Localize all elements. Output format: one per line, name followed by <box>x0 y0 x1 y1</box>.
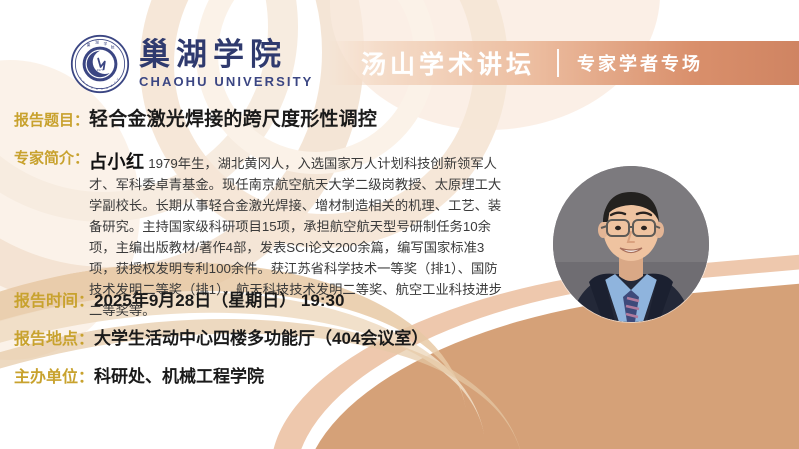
report-title-row: 报告题目： 轻合金激光焊接的跨尺度形性调控 <box>14 108 377 132</box>
svg-text:U: U <box>100 87 103 91</box>
forum-banner: 汤山学术讲坛 专家学者专场 <box>328 41 799 85</box>
svg-text:院: 院 <box>111 44 115 49</box>
svg-text:1977: 1977 <box>97 68 104 72</box>
svg-text:巢: 巢 <box>87 42 91 47</box>
report-title-label: 报告题目： <box>14 112 89 131</box>
report-host-label: 主办单位： <box>14 368 94 388</box>
svg-text:学: 学 <box>104 41 108 46</box>
svg-text:湖: 湖 <box>95 40 99 45</box>
report-time-row: 报告时间： 2025年9月28日（星期日） 19:30 <box>14 290 344 312</box>
speaker-name: 占小红 <box>89 152 145 172</box>
report-time-label: 报告时间： <box>14 292 94 312</box>
report-place-row: 报告地点： 大学生活动中心四楼多功能厅（404会议室） <box>14 328 428 350</box>
forum-banner-subtitle: 专家学者专场 <box>577 50 703 76</box>
svg-text:U: U <box>106 86 109 90</box>
banner-divider <box>557 49 559 77</box>
report-host-value: 科研处、机械工程学院 <box>94 366 264 387</box>
svg-text:H: H <box>96 87 98 91</box>
university-name-block: 巢湖学院 CHAOHU UNIVERSITY <box>139 39 313 90</box>
poster-canvas: 巢湖 学院 C H A O H U U N I V <box>0 0 799 449</box>
svg-text:O: O <box>91 85 94 89</box>
svg-text:H: H <box>82 80 86 84</box>
svg-text:A: A <box>86 83 89 87</box>
svg-text:N: N <box>110 84 114 88</box>
report-place-value: 大学生活动中心四楼多功能厅（404会议室） <box>94 328 428 349</box>
university-branding: 巢湖 学院 C H A O H U U N I V <box>70 34 313 94</box>
report-title-value: 轻合金激光焊接的跨尺度形性调控 <box>89 108 377 132</box>
university-name-cn: 巢湖学院 <box>139 39 313 72</box>
poster-header: 巢湖 学院 C H A O H U U N I V <box>0 0 799 104</box>
report-time-value: 2025年9月28日（星期日） 19:30 <box>94 290 344 311</box>
forum-banner-title: 汤山学术讲坛 <box>361 45 535 81</box>
speaker-portrait-photo <box>553 166 709 322</box>
chaohu-university-seal-icon: 巢湖 学院 C H A O H U U N I V <box>70 34 130 94</box>
speaker-bio-label: 专家简介： <box>14 148 89 169</box>
report-place-label: 报告地点： <box>14 330 94 350</box>
svg-text:C: C <box>79 76 83 80</box>
university-name-en: CHAOHU UNIVERSITY <box>139 74 313 89</box>
report-host-row: 主办单位： 科研处、机械工程学院 <box>14 366 264 388</box>
